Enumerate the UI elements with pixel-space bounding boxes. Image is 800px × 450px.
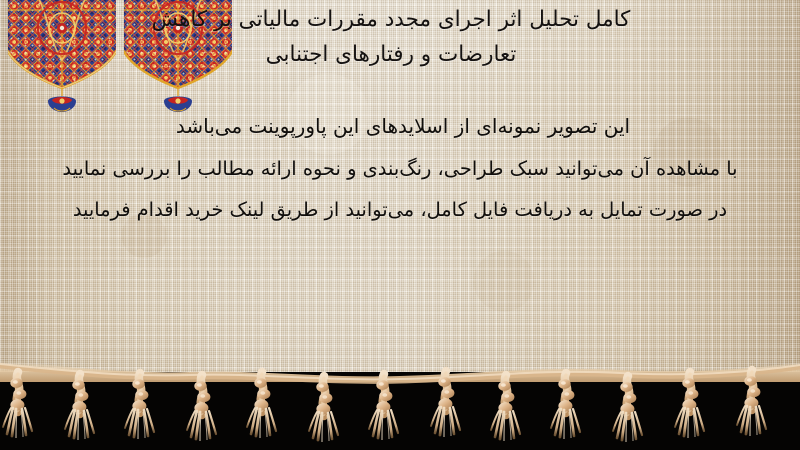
fringe-tassels-icon: [0, 352, 800, 450]
title-line-1: کامل تحلیل اثر اجرای مجدد مقررات مالیاتی…: [0, 2, 800, 37]
title-line-2: تعارضات و رفتارهای اجتنابی: [0, 37, 800, 72]
slide-body: این تصویر نمونه‌ای از اسلایدهای این پاور…: [0, 106, 800, 231]
carpet-fringe: [0, 352, 800, 450]
slide-title: کامل تحلیل اثر اجرای مجدد مقررات مالیاتی…: [0, 2, 800, 72]
presentation-slide: کامل تحلیل اثر اجرای مجدد مقررات مالیاتی…: [0, 0, 800, 450]
body-line-2: با مشاهده آن می‌توانید سبک طراحی، رنگ‌بن…: [0, 148, 800, 190]
body-line-1: این تصویر نمونه‌ای از اسلایدهای این پاور…: [0, 106, 800, 148]
body-line-3: در صورت تمایل به دریافت فایل کامل، می‌تو…: [0, 189, 800, 231]
